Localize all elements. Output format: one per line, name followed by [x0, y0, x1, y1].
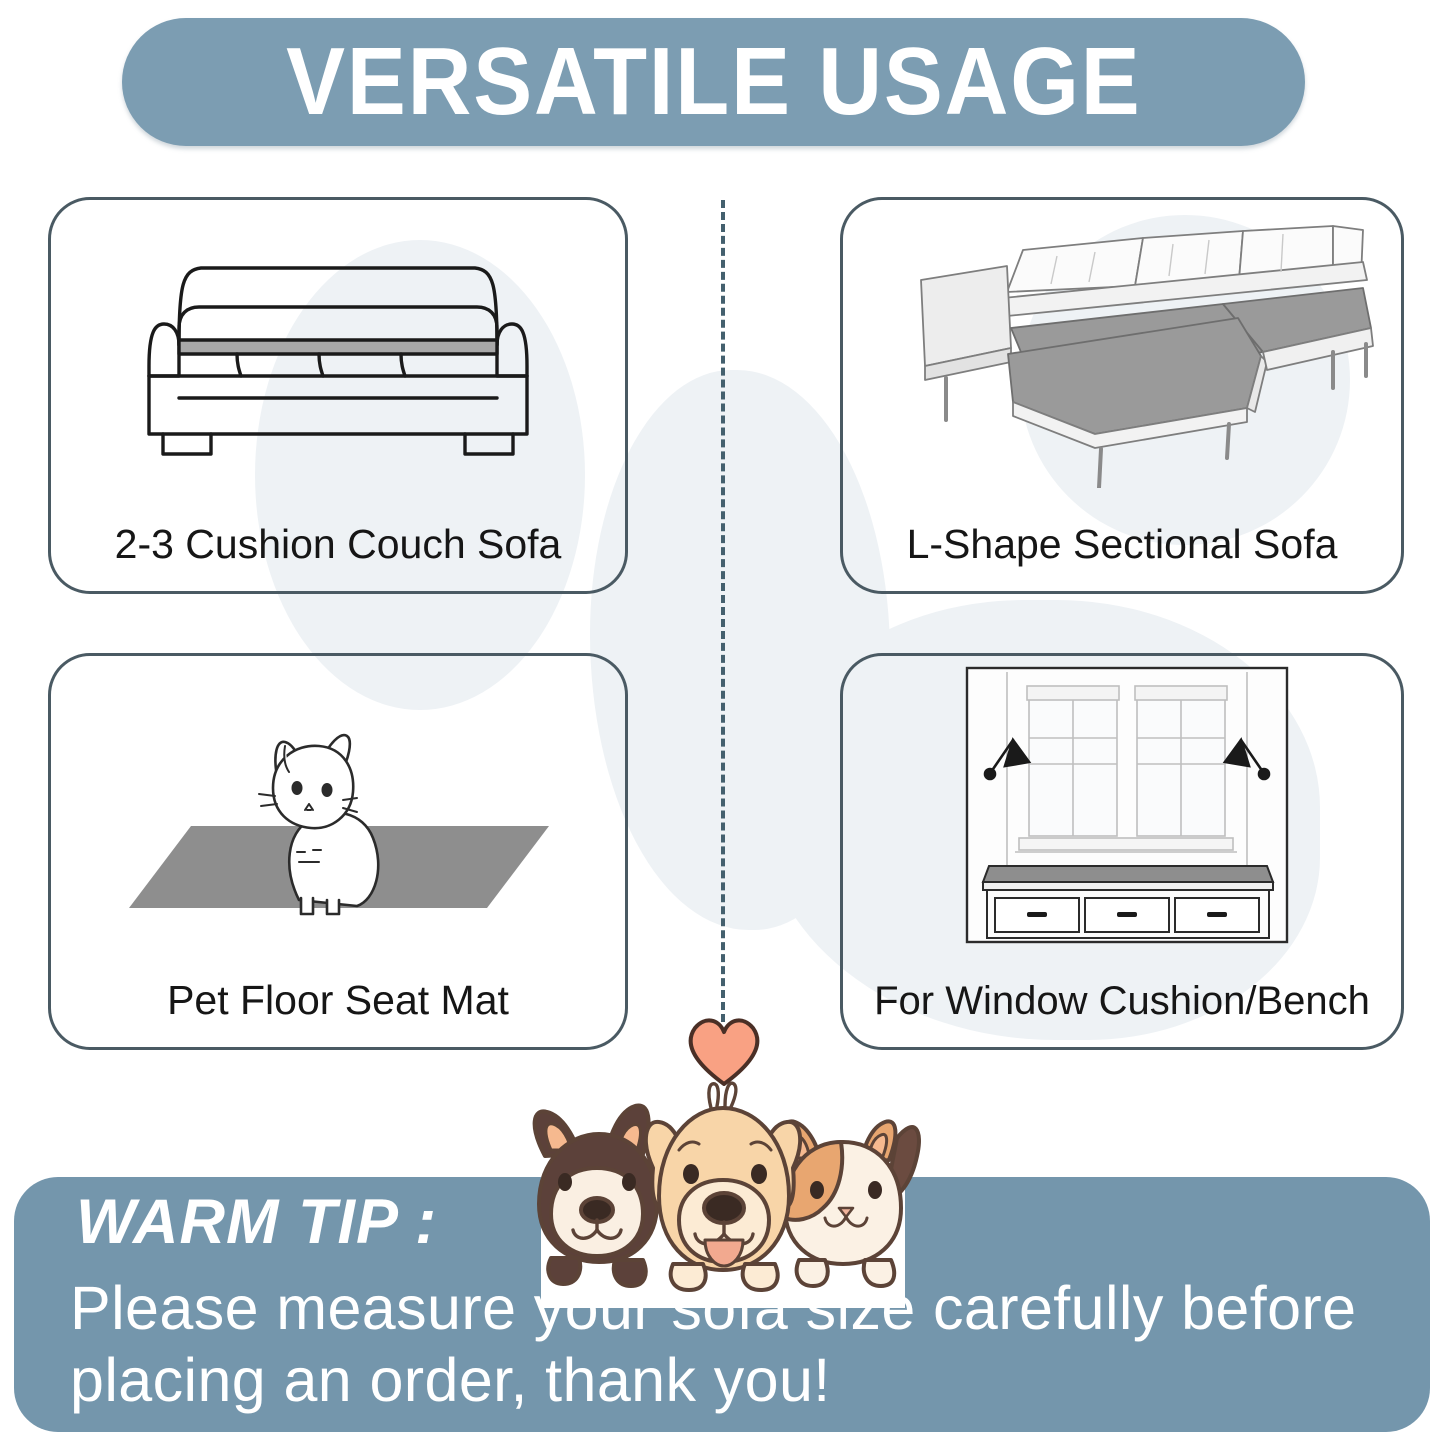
heart-icon — [681, 1008, 767, 1090]
usage-card-window-bench: For Window Cushion/Bench — [840, 653, 1404, 1050]
usage-card-couch-sofa: 2-3 Cushion Couch Sofa — [48, 197, 628, 594]
window-bench-icon — [843, 662, 1401, 944]
usage-card-label: L-Shape Sectional Sofa — [847, 524, 1397, 565]
header-banner: VERSATILE USAGE — [122, 18, 1305, 146]
dashed-divider — [721, 200, 725, 1022]
sofa-icon — [51, 206, 625, 488]
usage-card-sectional-sofa: L-Shape Sectional Sofa — [840, 197, 1404, 594]
cat-on-mat-icon — [51, 662, 625, 944]
warm-tip-heading: WARM TIP : — [76, 1191, 437, 1254]
usage-card-label: 2-3 Cushion Couch Sofa — [55, 524, 621, 565]
infographic-canvas: VERSATILE USAGE — [0, 0, 1445, 1447]
sectional-sofa-icon — [843, 206, 1401, 488]
page-title: VERSATILE USAGE — [286, 34, 1141, 130]
usage-card-pet-mat: Pet Floor Seat Mat — [48, 653, 628, 1050]
